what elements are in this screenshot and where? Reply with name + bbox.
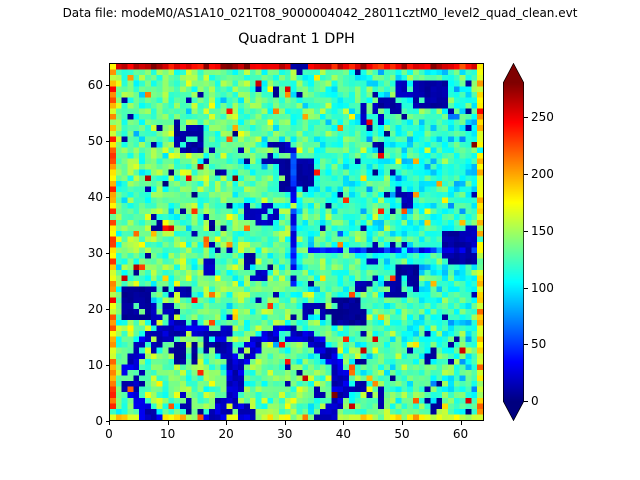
y-tick-mark xyxy=(106,421,110,422)
colorbar-tick-mark xyxy=(524,174,528,175)
x-tick-mark xyxy=(402,421,403,425)
colorbar[interactable] xyxy=(503,63,524,421)
colorbar-tick-mark xyxy=(524,288,528,289)
y-tick-label: 10 xyxy=(63,358,103,372)
colorbar-tick-mark xyxy=(524,344,528,345)
colorbar-tick-label: 0 xyxy=(531,394,539,408)
y-tick-label: 20 xyxy=(63,302,103,316)
x-tick-label: 40 xyxy=(336,427,351,441)
x-tick-mark xyxy=(343,421,344,425)
x-tick-label: 20 xyxy=(219,427,234,441)
y-tick-mark xyxy=(106,309,110,310)
x-tick-label: 50 xyxy=(394,427,409,441)
y-tick-label: 40 xyxy=(63,190,103,204)
y-tick-mark xyxy=(106,141,110,142)
colorbar-tick-mark xyxy=(524,231,528,232)
data-file-caption: Data file: modeM0/AS1A10_021T08_90000040… xyxy=(0,6,640,20)
y-tick-label: 60 xyxy=(63,78,103,92)
colorbar-tick-mark xyxy=(524,401,528,402)
colorbar-tick-label: 100 xyxy=(531,281,554,295)
x-tick-mark xyxy=(285,421,286,425)
x-tick-label: 60 xyxy=(453,427,468,441)
y-tick-mark xyxy=(106,197,110,198)
y-tick-mark xyxy=(106,365,110,366)
colorbar-tick-label: 150 xyxy=(531,224,554,238)
page-title: Quadrant 1 DPH xyxy=(109,31,484,48)
colorbar-tick-mark xyxy=(524,117,528,118)
colorbar-tick-label: 50 xyxy=(531,337,546,351)
y-tick-label: 30 xyxy=(63,246,103,260)
x-tick-mark xyxy=(226,421,227,425)
colorbar-tick-label: 200 xyxy=(531,167,554,181)
y-tick-label: 50 xyxy=(63,134,103,148)
colorbar-tick-label: 250 xyxy=(531,110,554,124)
y-tick-mark xyxy=(106,85,110,86)
x-tick-label: 30 xyxy=(277,427,292,441)
colorbar-gradient xyxy=(503,63,524,421)
y-tick-label: 0 xyxy=(63,414,103,428)
x-tick-mark xyxy=(109,421,110,425)
heatmap-axes[interactable] xyxy=(109,63,484,421)
x-tick-mark xyxy=(461,421,462,425)
dph-heatmap-image[interactable] xyxy=(110,64,483,420)
y-tick-mark xyxy=(106,253,110,254)
matplotlib-figure: Data file: modeM0/AS1A10_021T08_90000040… xyxy=(0,0,640,480)
x-tick-label: 10 xyxy=(160,427,175,441)
x-tick-mark xyxy=(168,421,169,425)
x-tick-label: 0 xyxy=(105,427,113,441)
